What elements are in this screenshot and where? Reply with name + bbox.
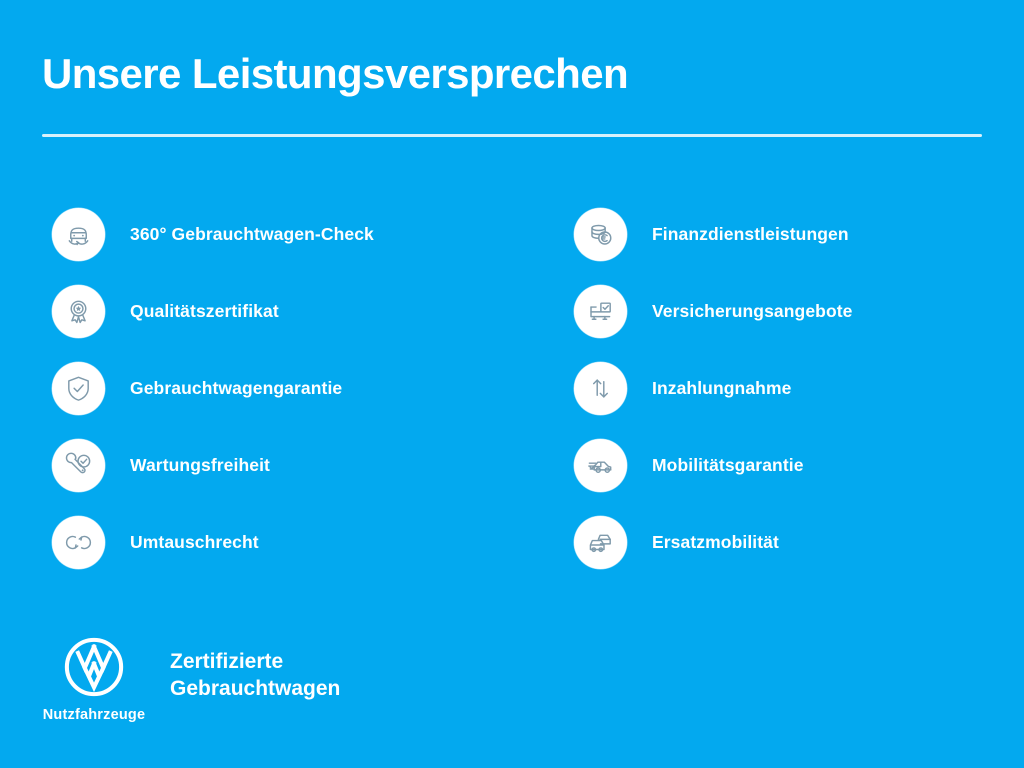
- promise-label: Wartungsfreiheit: [130, 455, 270, 476]
- promise-label: Finanzdienstleistungen: [652, 224, 849, 245]
- promise-label: Inzahlungnahme: [652, 378, 791, 399]
- shield-check-icon: [52, 362, 105, 415]
- slide-root: Unsere Leistungsversprechen: [0, 0, 1024, 768]
- brand-block: Nutzfahrzeuge: [36, 636, 152, 723]
- promise-label: Qualitätszertifikat: [130, 301, 279, 322]
- promise-item-versicherungsangebote[interactable]: Versicherungsangebote: [574, 273, 1024, 350]
- promise-label: Versicherungsangebote: [652, 301, 853, 322]
- wrench-check-icon: [52, 439, 105, 492]
- promise-item-inzahlungnahme[interactable]: Inzahlungnahme: [574, 350, 1024, 427]
- footer-headline: Zertifizierte Gebrauchtwagen: [170, 648, 340, 703]
- promise-item-gebrauchtwagen-check[interactable]: 360° Gebrauchtwagen-Check: [52, 196, 512, 273]
- promise-label: Umtauschrecht: [130, 532, 259, 553]
- footer-headline-line1: Zertifizierte: [170, 648, 340, 675]
- footer: Nutzfahrzeuge Zertifizierte Gebrauchtwag…: [36, 636, 340, 723]
- promise-item-mobilitaetsgarantie[interactable]: Mobilitätsgarantie: [574, 427, 1024, 504]
- promise-item-qualitaetszertifikat[interactable]: Qualitätszertifikat: [52, 273, 512, 350]
- promise-item-gebrauchtwagengarantie[interactable]: Gebrauchtwagengarantie: [52, 350, 512, 427]
- two-cars-icon: [574, 516, 627, 569]
- footer-headline-line2: Gebrauchtwagen: [170, 675, 340, 702]
- promise-label: Gebrauchtwagengarantie: [130, 378, 342, 399]
- volkswagen-logo: [63, 636, 125, 698]
- promise-item-wartungsfreiheit[interactable]: Wartungsfreiheit: [52, 427, 512, 504]
- promise-label: 360° Gebrauchtwagen-Check: [130, 224, 374, 245]
- arrows-up-down-icon: [574, 362, 627, 415]
- promise-item-finanzdienstleistungen[interactable]: Finanzdienstleistungen: [574, 196, 1024, 273]
- page-title: Unsere Leistungsversprechen: [42, 52, 628, 96]
- promise-item-ersatzmobilitaet[interactable]: Ersatzmobilität: [574, 504, 1024, 581]
- promise-label: Ersatzmobilität: [652, 532, 779, 553]
- title-divider: [42, 134, 982, 137]
- brand-subtitle: Nutzfahrzeuge: [43, 707, 146, 723]
- award-medal-icon: [52, 285, 105, 338]
- coins-euro-icon: [574, 208, 627, 261]
- exchange-arrows-icon: [52, 516, 105, 569]
- promise-label: Mobilitätsgarantie: [652, 455, 804, 476]
- car-motion-icon: [574, 439, 627, 492]
- promise-item-umtauschrecht[interactable]: Umtauschrecht: [52, 504, 512, 581]
- car-front-check-icon: [52, 208, 105, 261]
- promises-column-left: 360° Gebrauchtwagen-Check Qualitätszerti…: [52, 196, 512, 581]
- promises-column-right: Finanzdienstleistungen Versicherungsange…: [574, 196, 1024, 581]
- van-document-check-icon: [574, 285, 627, 338]
